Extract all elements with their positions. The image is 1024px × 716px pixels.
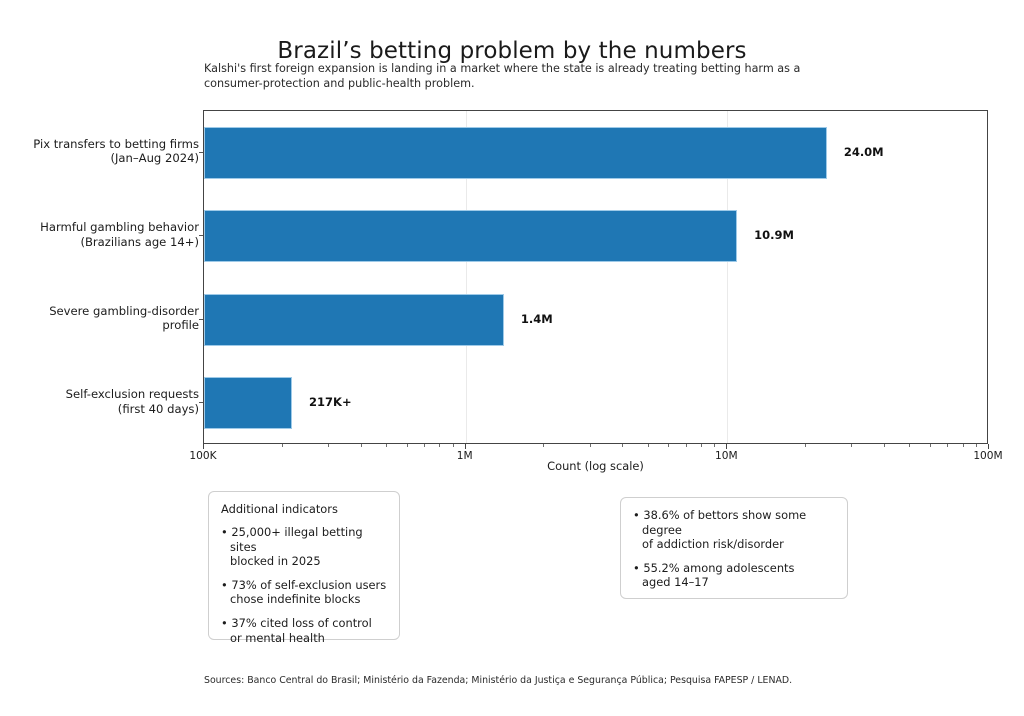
bar-value-label: 1.4M	[521, 312, 553, 326]
x-axis-tick-minor	[668, 444, 669, 447]
x-axis-tick-minor	[282, 444, 283, 447]
note-item: • 73% of self-exclusion users chose inde…	[221, 578, 387, 607]
note-items-left: • 25,000+ illegal betting sites blocked …	[221, 525, 387, 645]
note-box-addiction-risk: • 38.6% of bettors show some degree of a…	[620, 497, 848, 599]
chart-subtitle: Kalshi's first foreign expansion is land…	[204, 62, 824, 91]
page-title: Brazil’s betting problem by the numbers	[0, 38, 1024, 64]
x-axis-tick-minor	[386, 444, 387, 447]
x-axis-tick-minor	[947, 444, 948, 447]
x-axis-tick-minor	[884, 444, 885, 447]
bar	[204, 294, 504, 346]
x-axis-tick-minor	[909, 444, 910, 447]
note-item: • 25,000+ illegal betting sites blocked …	[221, 525, 387, 569]
x-axis-tick-major	[726, 444, 727, 449]
x-axis-tick-minor	[930, 444, 931, 447]
x-axis-tick-major	[465, 444, 466, 449]
bar-value-label: 10.9M	[754, 228, 794, 242]
bar-value-label: 217K+	[309, 395, 352, 409]
x-axis-tick-minor	[976, 444, 977, 447]
x-axis-tick-minor	[407, 444, 408, 447]
x-axis-tick-minor	[622, 444, 623, 447]
note-box-additional-indicators: Additional indicators • 25,000+ illegal …	[208, 491, 400, 640]
bar	[204, 210, 737, 262]
note-item: • 55.2% among adolescents aged 14–17	[633, 561, 835, 590]
x-axis-tick-minor	[424, 444, 425, 447]
bar	[204, 127, 827, 179]
y-axis-label: Self-exclusion requests (first 40 days)	[9, 387, 199, 416]
x-axis-title: Count (log scale)	[203, 459, 988, 473]
x-axis-tick-minor	[714, 444, 715, 447]
sources-footnote: Sources: Banco Central do Brasil; Minist…	[204, 675, 792, 686]
x-axis-tick-minor	[453, 444, 454, 447]
x-axis-tick-minor	[963, 444, 964, 447]
x-axis-tick-minor	[686, 444, 687, 447]
x-axis-tick-minor	[701, 444, 702, 447]
y-axis-label: Pix transfers to betting firms (Jan–Aug …	[9, 137, 199, 166]
bar	[204, 377, 292, 429]
x-axis-tick-minor	[851, 444, 852, 447]
note-item: • 38.6% of bettors show some degree of a…	[633, 508, 835, 552]
x-axis-tick-minor	[543, 444, 544, 447]
note-items-right: • 38.6% of bettors show some degree of a…	[633, 508, 835, 590]
x-axis-tick-minor	[439, 444, 440, 447]
x-axis-tick-minor	[805, 444, 806, 447]
bar-value-label: 24.0M	[844, 145, 884, 159]
x-axis-tick-major	[988, 444, 989, 449]
x-axis-tick-minor	[590, 444, 591, 447]
y-axis: Pix transfers to betting firms (Jan–Aug …	[5, 110, 199, 444]
note-item: • 37% cited loss of control or mental he…	[221, 616, 387, 645]
x-axis-tick-major	[203, 444, 204, 449]
note-box-title: Additional indicators	[221, 502, 387, 516]
x-axis-tick-minor	[648, 444, 649, 447]
y-axis-label: Harmful gambling behavior (Brazilians ag…	[9, 220, 199, 249]
x-axis-tick-minor	[328, 444, 329, 447]
plot-area: 24.0M10.9M1.4M217K+	[203, 110, 988, 444]
x-axis-tick-minor	[361, 444, 362, 447]
y-axis-label: Severe gambling-disorder profile	[9, 304, 199, 333]
